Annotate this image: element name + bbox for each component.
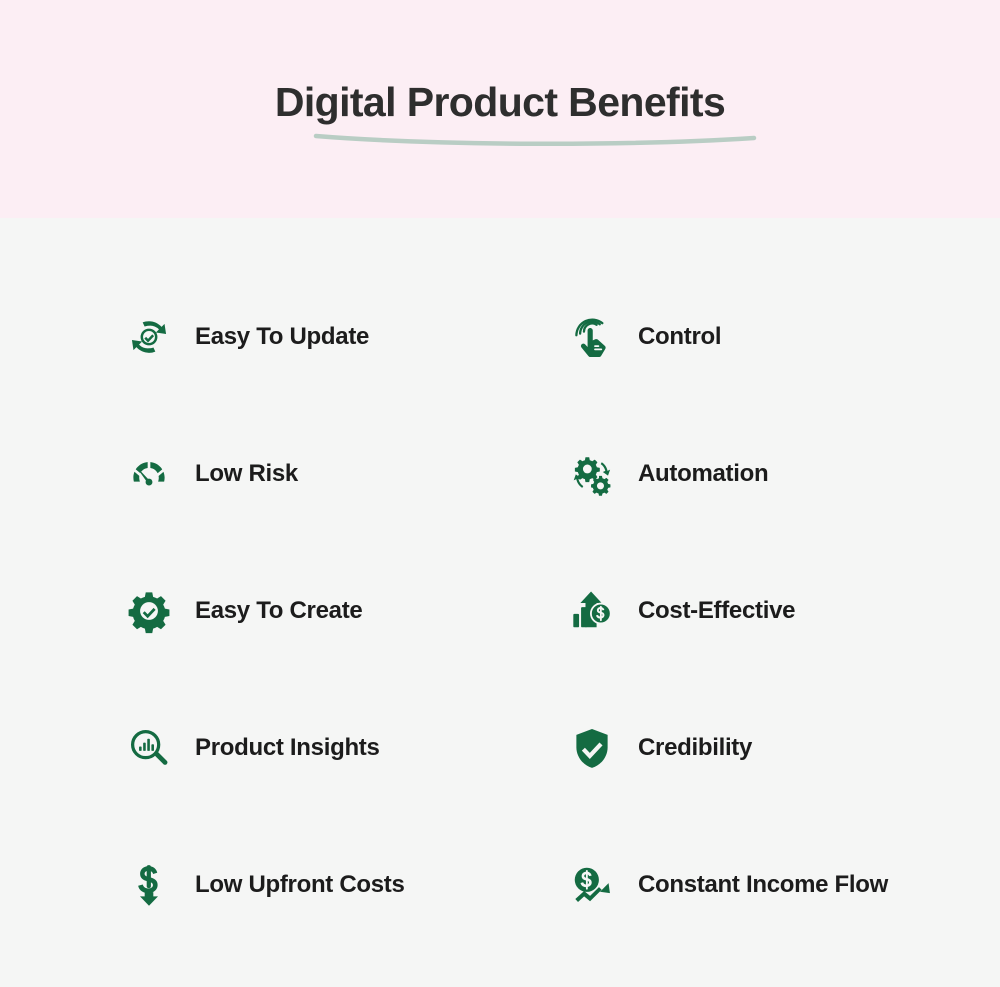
benefit-item-control[interactable]: Control (500, 268, 1000, 405)
dollar-down-arrow-icon (125, 861, 173, 909)
benefit-label: Low Upfront Costs (195, 869, 405, 901)
benefit-item-credibility[interactable]: Credibility (500, 679, 1000, 816)
benefit-item-cost-effective[interactable]: Cost-Effective (500, 542, 1000, 679)
gauge-icon (125, 450, 173, 498)
dollar-trend-up-icon (568, 861, 616, 909)
benefit-item-easy-to-create[interactable]: Easy To Create (0, 542, 500, 679)
benefits-grid: Easy To Update (0, 218, 1000, 987)
benefit-label: Control (638, 321, 721, 353)
benefit-label: Constant Income Flow (638, 869, 888, 901)
benefit-item-automation[interactable]: Automation (500, 405, 1000, 542)
gear-check-icon (125, 587, 173, 635)
benefit-label: Credibility (638, 732, 752, 764)
benefit-label: Cost-Effective (638, 595, 795, 627)
benefits-infographic: Digital Product Benefits Easy To Update (0, 0, 1000, 987)
header-band: Digital Product Benefits (0, 0, 1000, 218)
touch-hand-icon (568, 313, 616, 361)
shield-check-icon (568, 724, 616, 772)
gears-cycle-icon (568, 450, 616, 498)
benefit-item-low-upfront-costs[interactable]: Low Upfront Costs (0, 816, 500, 953)
chart-up-dollar-icon (568, 587, 616, 635)
benefit-label: Low Risk (195, 458, 298, 490)
title-underline-stroke (310, 126, 760, 150)
benefit-label: Easy To Create (195, 595, 362, 627)
refresh-check-icon (125, 313, 173, 361)
benefit-item-constant-income-flow[interactable]: Constant Income Flow (500, 816, 1000, 953)
benefit-item-product-insights[interactable]: Product Insights (0, 679, 500, 816)
benefit-item-easy-to-update[interactable]: Easy To Update (0, 268, 500, 405)
benefit-item-low-risk[interactable]: Low Risk (0, 405, 500, 542)
benefit-label: Easy To Update (195, 321, 369, 353)
benefit-label: Automation (638, 458, 768, 490)
benefit-label: Product Insights (195, 732, 380, 764)
magnifier-chart-icon (125, 724, 173, 772)
page-title: Digital Product Benefits (0, 78, 1000, 127)
